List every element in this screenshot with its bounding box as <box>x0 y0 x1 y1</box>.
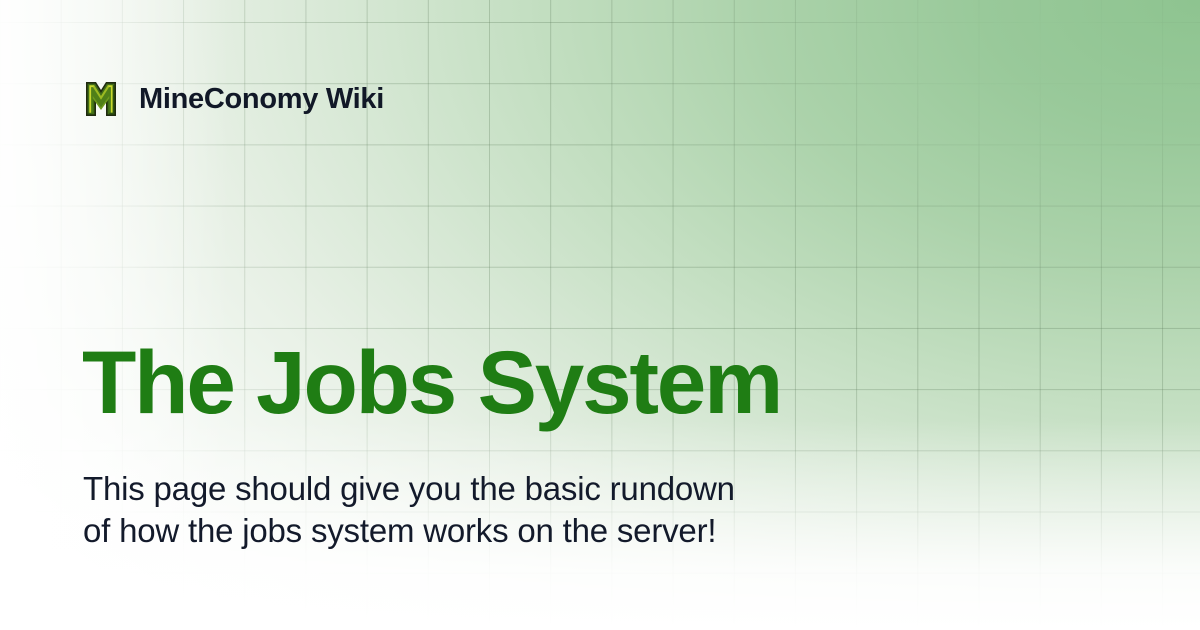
mineconomy-m-block-icon <box>83 80 119 118</box>
brand-name: MineConomy Wiki <box>139 85 384 114</box>
page-title: The Jobs System <box>82 338 781 427</box>
brand-lockup: MineConomy Wiki <box>83 80 384 118</box>
page-subtitle-line-2: of how the jobs system works on the serv… <box>83 510 883 552</box>
card-content: MineConomy Wiki The Jobs System This pag… <box>0 0 1200 630</box>
page-subtitle-line-1: This page should give you the basic rund… <box>83 468 883 510</box>
page-subtitle: This page should give you the basic rund… <box>83 468 883 551</box>
og-card: MineConomy Wiki The Jobs System This pag… <box>0 0 1200 630</box>
